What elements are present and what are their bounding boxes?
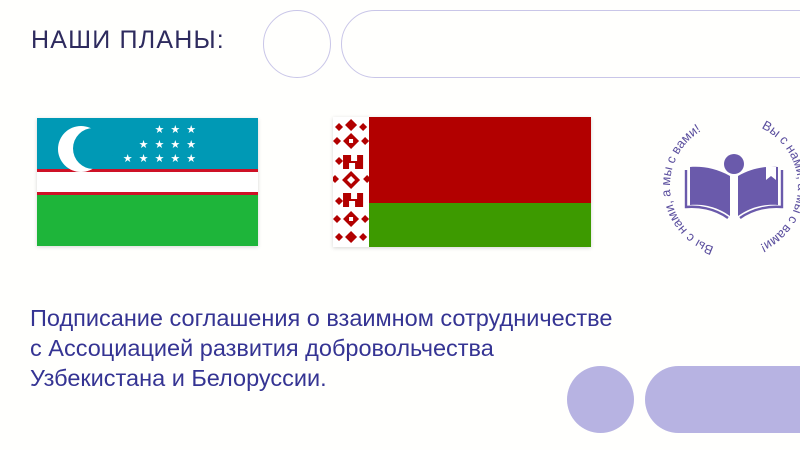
organization-logo: Вы с нами, а мы с вами! Вы с нами, а мы … xyxy=(648,100,800,272)
uzbekistan-white-band xyxy=(37,172,258,192)
star-row: ★ ★ ★ ★ ★ xyxy=(99,153,196,167)
page-title: НАШИ ПЛАНЫ: xyxy=(31,26,225,55)
star-icon: ★ xyxy=(154,125,164,136)
open-book-icon xyxy=(686,154,782,218)
star-icon: ★ xyxy=(139,154,149,165)
decorative-pill-outline xyxy=(341,10,800,78)
flag-uzbekistan: ★ ★ ★ ★ ★ ★ ★ ★ ★ ★ ★ ★ xyxy=(37,118,258,246)
star-icon: ★ xyxy=(186,125,196,136)
logo-svg: Вы с нами, а мы с вами! Вы с нами, а мы … xyxy=(648,100,800,272)
star-icon: ★ xyxy=(170,125,180,136)
flag-belarus xyxy=(333,117,591,247)
star-icon: ★ xyxy=(186,154,196,165)
star-icon: ★ xyxy=(186,140,196,151)
uzbekistan-green-band xyxy=(37,195,258,246)
decorative-circle-outline xyxy=(263,10,331,78)
star-icon: ★ xyxy=(139,140,149,151)
star-row: ★ ★ ★ xyxy=(99,124,196,138)
star-icon: ★ xyxy=(154,154,164,165)
star-icon: ★ xyxy=(170,154,180,165)
decorative-circle-filled xyxy=(567,366,634,433)
presentation-slide: НАШИ ПЛАНЫ: ★ ★ ★ ★ ★ ★ ★ ★ ★ ★ xyxy=(0,0,800,450)
rushnyk-ornament-icon xyxy=(333,117,369,247)
star-icon: ★ xyxy=(154,140,164,151)
star-icon: ★ xyxy=(123,154,133,165)
reader-head-icon xyxy=(724,154,744,174)
belarus-green-band xyxy=(333,203,591,247)
belarus-ornament-stripe xyxy=(333,117,369,247)
uzbekistan-stars: ★ ★ ★ ★ ★ ★ ★ ★ ★ ★ ★ ★ xyxy=(99,124,196,168)
belarus-red-band xyxy=(333,117,591,203)
crescent-icon xyxy=(58,126,104,172)
body-line-2: с Ассоциацией развития добровольчества xyxy=(30,333,690,363)
star-row: ★ ★ ★ ★ xyxy=(99,138,196,152)
decorative-pill-filled xyxy=(645,366,800,433)
star-icon: ★ xyxy=(170,140,180,151)
body-line-1: Подписание соглашения о взаимном сотрудн… xyxy=(30,303,690,333)
